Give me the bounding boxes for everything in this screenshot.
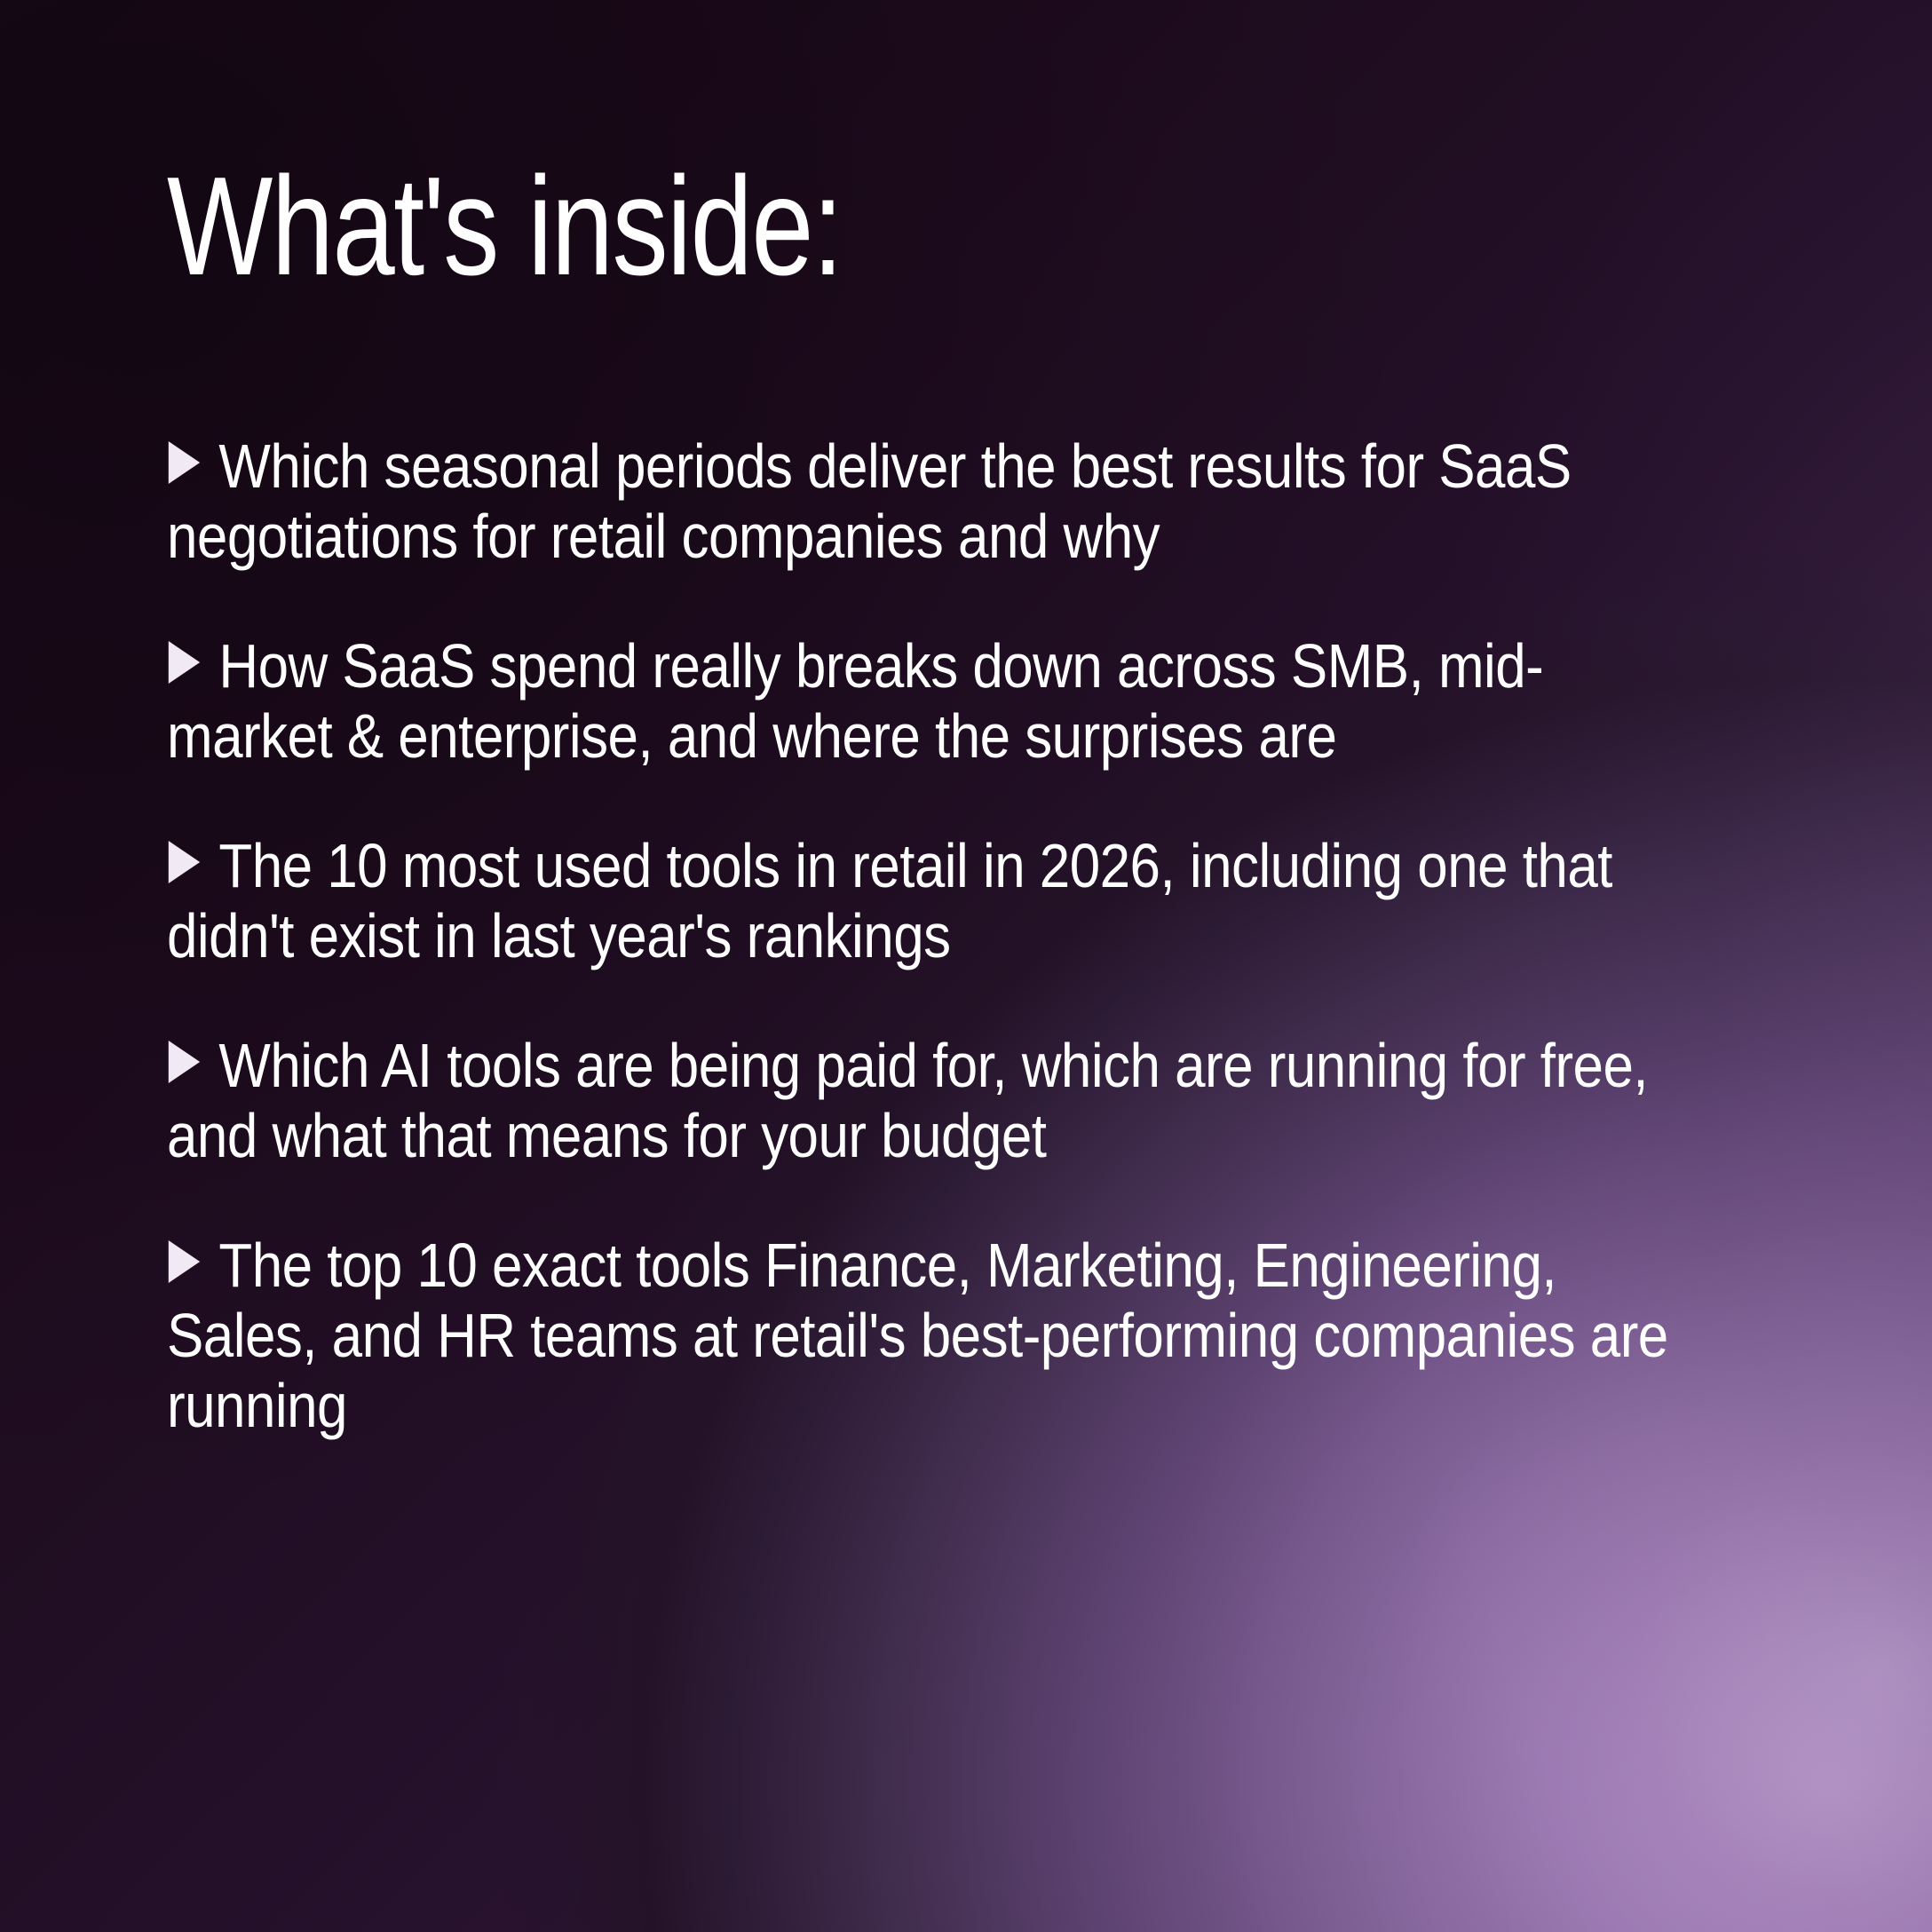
triangle-right-icon: [167, 839, 202, 893]
slide-content: What's inside: Which seasonal periods de…: [167, 156, 1834, 1825]
triangle-right-icon: [167, 1239, 202, 1293]
bullet-item-seasonal-periods: Which seasonal periods deliver the best …: [167, 432, 1683, 573]
bullet-text: Which seasonal periods deliver the best …: [167, 432, 1572, 571]
bullet-item-ai-tools-paid-free: Which AI tools are being paid for, which…: [167, 1031, 1683, 1172]
bullet-item-saas-spend-breakdown: How SaaS spend really breaks down across…: [167, 631, 1683, 772]
bullet-text: The 10 most used tools in retail in 2026…: [167, 831, 1612, 970]
triangle-right-icon: [167, 439, 202, 494]
page-title: What's inside:: [167, 156, 1500, 297]
bullet-text: The top 10 exact tools Finance, Marketin…: [167, 1231, 1668, 1441]
slide-canvas: What's inside: Which seasonal periods de…: [0, 0, 1932, 1932]
triangle-right-icon: [167, 639, 202, 693]
triangle-right-icon: [167, 1039, 202, 1093]
bullet-item-top-10-tools: The 10 most used tools in retail in 2026…: [167, 831, 1683, 972]
bullet-list: Which seasonal periods deliver the best …: [167, 432, 1881, 1442]
bullet-item-top-10-by-department: The top 10 exact tools Finance, Marketin…: [167, 1231, 1683, 1442]
bullet-text: How SaaS spend really breaks down across…: [167, 631, 1543, 771]
bullet-text: Which AI tools are being paid for, which…: [167, 1031, 1648, 1170]
